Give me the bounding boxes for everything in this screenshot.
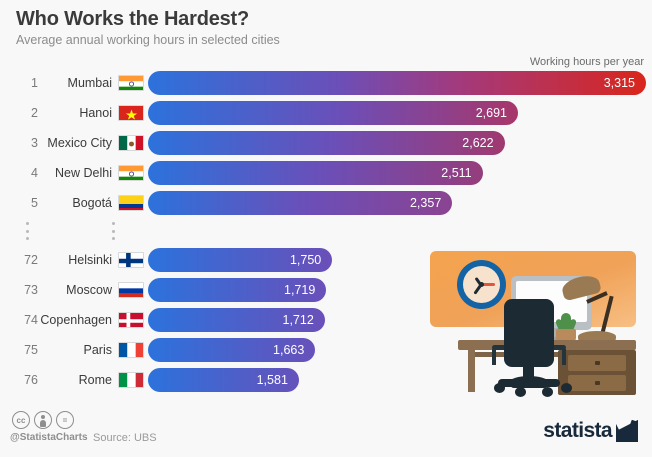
bar-value-label: 1,581 — [257, 373, 299, 387]
rank-label: 5 — [0, 196, 38, 210]
table-row: 4New Delhi2,511 — [0, 158, 652, 188]
bar-value-label: 1,663 — [273, 343, 315, 357]
bar[interactable]: 2,691 — [148, 101, 518, 125]
rank-label: 4 — [0, 166, 38, 180]
flag-icon-france — [118, 342, 144, 358]
flag-icon-mexico — [118, 135, 144, 151]
office-desk-illustration — [430, 251, 636, 395]
city-label: Helsinki — [38, 253, 116, 267]
statista-wordmark: statista — [543, 419, 612, 443]
bar[interactable]: 1,581 — [148, 368, 299, 392]
flag-icon-finland — [118, 252, 144, 268]
rank-label: 1 — [0, 76, 38, 90]
clock-face — [463, 266, 500, 303]
flag-icon-italy — [118, 372, 144, 388]
bar[interactable]: 3,315 — [148, 71, 646, 95]
chair-caster — [494, 383, 505, 393]
city-label: Mexico City — [38, 136, 116, 150]
flag-icon-india — [118, 75, 144, 91]
bar[interactable]: 1,712 — [148, 308, 325, 332]
city-label: Rome — [38, 373, 116, 387]
bar-track: 2,691 — [148, 98, 652, 128]
bar-track: 2,357 — [148, 188, 652, 218]
city-label: Bogotá — [38, 196, 116, 210]
truncation-ellipsis-row — [0, 218, 652, 245]
chair-star-base — [498, 379, 560, 387]
chair-caster — [542, 387, 553, 397]
chair-caster — [561, 383, 572, 393]
city-label: Mumbai — [38, 76, 116, 90]
chair-arm-post-left — [492, 349, 496, 365]
rank-label: 72 — [0, 253, 38, 267]
bar[interactable]: 1,663 — [148, 338, 315, 362]
bar[interactable]: 1,719 — [148, 278, 326, 302]
footer: cc = @StatistaCharts Source: UBS statist… — [0, 405, 652, 457]
cc-by-person-icon — [34, 411, 52, 429]
office-chair-icon — [504, 299, 554, 367]
cabinet-drawer-top — [568, 355, 626, 371]
bar-value-label: 2,622 — [462, 136, 504, 150]
infographic-canvas: Who Works the Hardest? Average annual wo… — [0, 0, 652, 457]
bar-value-label: 1,712 — [283, 313, 325, 327]
bar[interactable]: 2,357 — [148, 191, 452, 215]
page-title: Who Works the Hardest? — [16, 8, 249, 31]
city-label: New Delhi — [38, 166, 116, 180]
flag-icon-colombia — [118, 195, 144, 211]
creative-commons-icons: cc = — [12, 411, 74, 429]
chair-arm-post-right — [562, 349, 566, 365]
city-ellipsis-icon — [112, 222, 115, 240]
rank-ellipsis-icon — [26, 222, 29, 240]
rank-label: 2 — [0, 106, 38, 120]
flag-icon-india — [118, 165, 144, 181]
statista-logo[interactable]: statista — [543, 419, 638, 443]
table-row: 3Mexico City2,622 — [0, 128, 652, 158]
rank-label: 73 — [0, 283, 38, 297]
bar-track: 2,511 — [148, 158, 652, 188]
source-label: Source: UBS — [93, 432, 157, 444]
statista-handle: @StatistaCharts — [10, 432, 88, 443]
bar-value-label: 3,315 — [604, 76, 646, 90]
cc-nd-equals-icon: = — [56, 411, 74, 429]
bar-value-label: 1,750 — [290, 253, 332, 267]
page-subtitle: Average annual working hours in selected… — [16, 33, 280, 47]
desk-leg — [468, 350, 475, 392]
bar-track: 3,315 — [148, 68, 652, 98]
bar-track: 2,622 — [148, 128, 652, 158]
cabinet-drawer-bottom — [568, 375, 626, 391]
statista-mark-icon — [616, 420, 638, 442]
chair-caster — [515, 387, 526, 397]
wall-clock-icon — [457, 260, 506, 309]
cc-icon: cc — [12, 411, 30, 429]
bar-value-label: 2,691 — [476, 106, 518, 120]
rank-label: 74 — [0, 313, 38, 327]
flag-icon-russia — [118, 282, 144, 298]
flag-icon-denmark — [118, 312, 144, 328]
axis-label: Working hours per year — [530, 56, 644, 68]
bar[interactable]: 2,622 — [148, 131, 505, 155]
table-row: 1Mumbai3,315 — [0, 68, 652, 98]
bar[interactable]: 2,511 — [148, 161, 483, 185]
rank-label: 76 — [0, 373, 38, 387]
bar-value-label: 2,511 — [441, 166, 482, 180]
table-row: 2Hanoi2,691 — [0, 98, 652, 128]
bar[interactable]: 1,750 — [148, 248, 332, 272]
table-row: 5Bogotá2,357 — [0, 188, 652, 218]
bar-value-label: 2,357 — [410, 196, 452, 210]
bar-value-label: 1,719 — [284, 283, 326, 297]
clock-pivot — [479, 282, 484, 287]
rank-label: 75 — [0, 343, 38, 357]
city-label: Paris — [38, 343, 116, 357]
rank-label: 3 — [0, 136, 38, 150]
flag-icon-vietnam — [118, 105, 144, 121]
city-label: Hanoi — [38, 106, 116, 120]
city-label: Copenhagen — [38, 313, 116, 327]
city-label: Moscow — [38, 283, 116, 297]
